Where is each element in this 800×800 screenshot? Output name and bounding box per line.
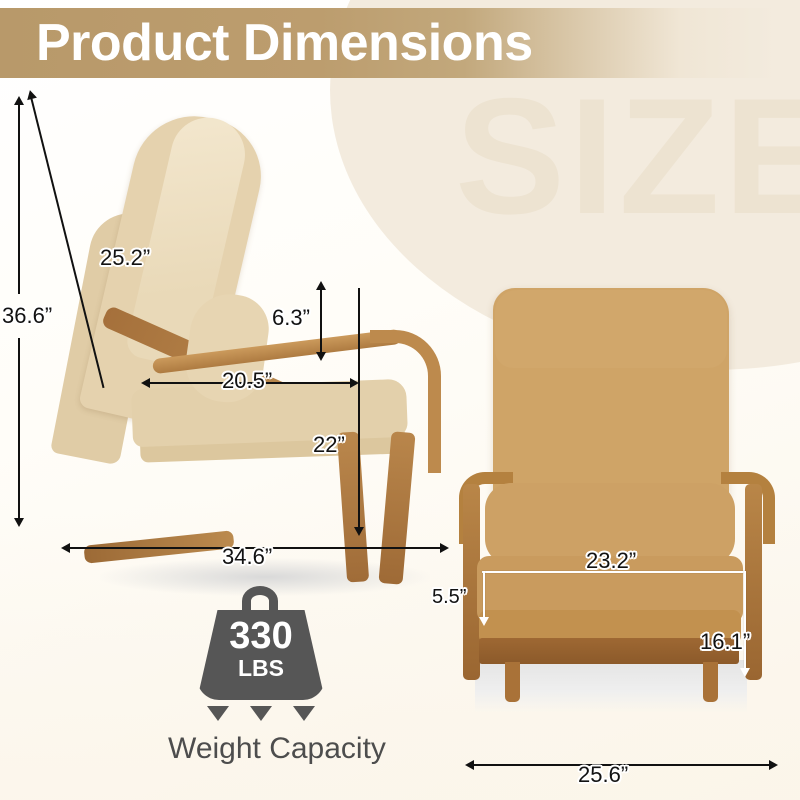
down-arrow-icon-1 <box>207 706 229 721</box>
dim-label-seat-height: 16.1” <box>700 629 750 655</box>
side-view-chair-illustration <box>40 92 450 542</box>
dim-line-overall-height-lower <box>18 338 20 518</box>
weight-capacity-caption: Weight Capacity <box>117 732 437 766</box>
page-title: Product Dimensions <box>36 14 533 72</box>
down-arrow-icon-2 <box>250 706 272 721</box>
dim-arrow-seat-height-bottom <box>740 668 750 677</box>
dim-label-overall-height: 36.6” <box>2 303 52 329</box>
weight-capacity-value: 330 <box>197 616 325 656</box>
dim-arrow-overall-width-right <box>769 760 778 770</box>
dim-arrow-overall-depth-right <box>440 543 449 553</box>
weight-capacity-block: 330 LBS Weight Capacity <box>145 586 405 786</box>
weight-capacity-unit: LBS <box>197 656 325 680</box>
size-watermark: SIZE <box>455 74 800 239</box>
front-chair-right-leg <box>703 662 718 702</box>
header-banner: Product Dimensions <box>0 8 800 78</box>
front-chair-headrest <box>495 290 727 368</box>
dim-arrow-overall-height-bottom <box>14 518 24 527</box>
dim-line-arm-above-seat <box>320 288 322 354</box>
dim-line-cushion-thickness <box>483 571 485 619</box>
down-arrow-icon-3 <box>293 706 315 721</box>
dim-label-backrest-height: 25.2” <box>100 245 150 271</box>
dim-arrow-cushion-thickness-bottom <box>479 617 489 626</box>
dim-label-arm-above-seat: 6.3” <box>272 305 310 331</box>
dim-line-arm-height <box>358 288 360 530</box>
dim-arrow-arm-height-bottom <box>354 527 364 536</box>
dim-label-seat-width: 23.2” <box>586 548 636 574</box>
dim-label-seat-depth: 20.5” <box>222 368 272 394</box>
front-chair-left-leg <box>505 662 520 702</box>
dim-arrow-arm-above-seat-top <box>316 281 326 290</box>
dim-label-overall-depth: 34.6” <box>222 544 272 570</box>
dim-label-arm-height: 22” <box>313 432 345 458</box>
dim-line-overall-height-upper <box>18 104 20 294</box>
dim-arrow-arm-above-seat-bottom <box>316 352 326 361</box>
dim-line-seat-height <box>744 571 746 670</box>
dim-label-overall-width: 25.6” <box>578 762 628 788</box>
dim-arrow-seat-depth-left <box>141 378 150 388</box>
dim-arrow-overall-width-left <box>465 760 474 770</box>
dim-label-cushion-thickness: 5.5” <box>432 586 466 609</box>
dim-arrow-overall-height-top <box>14 96 24 105</box>
infographic-canvas: SIZE Product Dimensions 36.6” 25.2” 6.3”… <box>0 0 800 800</box>
dim-arrow-overall-depth-left <box>61 543 70 553</box>
